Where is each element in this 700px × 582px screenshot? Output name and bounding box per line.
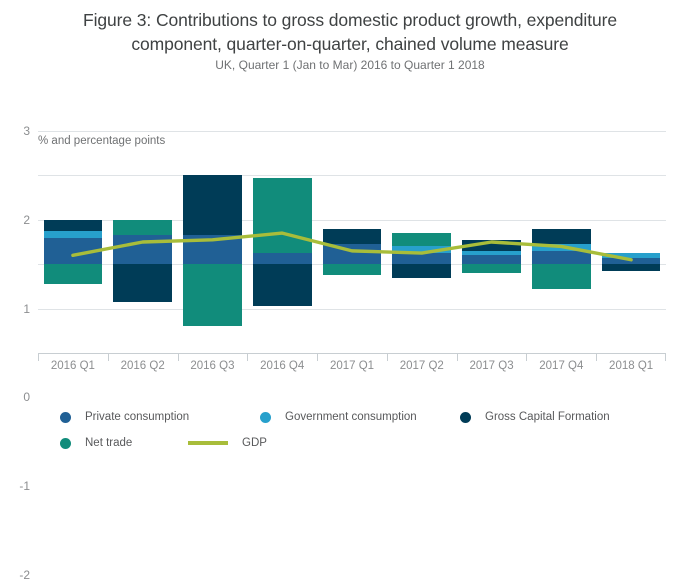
legend-item-gross-capital-formation[interactable]: Gross Capital Formation (460, 411, 660, 423)
bar-segment[interactable] (113, 235, 172, 264)
bar-segment[interactable] (183, 235, 242, 264)
stacked-bars (38, 131, 666, 353)
legend-item-label: GDP (242, 437, 267, 449)
bar-group[interactable] (178, 131, 248, 353)
y-axis-unit-label: % and percentage points (38, 135, 165, 147)
bar-segment[interactable] (323, 264, 382, 275)
bar-segment[interactable] (44, 264, 103, 284)
x-axis-label: 2016 Q4 (260, 360, 304, 372)
legend-color-dot (260, 412, 271, 423)
bar-group[interactable] (457, 131, 527, 353)
x-axis-label: 2017 Q2 (400, 360, 444, 372)
bar-segment[interactable] (323, 229, 382, 245)
legend-row: Net tradeGDP (60, 430, 680, 456)
figure-container: Figure 3: Contributions to gross domesti… (0, 0, 700, 502)
legend-row: Private consumptionGovernment consumptio… (60, 404, 680, 430)
bar-segment[interactable] (392, 233, 451, 246)
legend-item-gdp[interactable]: GDP (188, 437, 267, 449)
legend-color-dot (60, 438, 71, 449)
bar-segment[interactable] (392, 264, 451, 277)
bar-segment[interactable] (602, 258, 661, 265)
legend-item-label: Net trade (85, 437, 132, 449)
bar-segment[interactable] (323, 244, 382, 264)
bar-segment[interactable] (532, 264, 591, 288)
y-axis-tick-label: -2 (19, 568, 30, 582)
legend-item-label: Gross Capital Formation (485, 411, 610, 423)
chart-legend: Private consumptionGovernment consumptio… (60, 404, 680, 456)
bar-segment[interactable] (602, 253, 661, 257)
bar-segment[interactable] (113, 264, 172, 302)
bar-segment[interactable] (44, 220, 103, 231)
bar-group[interactable] (596, 131, 666, 353)
x-axis-label: 2016 Q3 (190, 360, 234, 372)
bar-segment[interactable] (253, 264, 312, 306)
bar-segment[interactable] (462, 240, 521, 251)
bar-group[interactable] (247, 131, 317, 353)
bar-group[interactable] (387, 131, 457, 353)
y-axis-tick-label: 3 (23, 124, 30, 138)
y-axis-tick-label: 1 (23, 302, 30, 316)
bar-segment[interactable] (532, 244, 591, 251)
bar-group[interactable] (108, 131, 178, 353)
x-axis-label: 2017 Q3 (469, 360, 513, 372)
chart-subtitle: UK, Quarter 1 (Jan to Mar) 2016 to Quart… (38, 58, 662, 72)
bar-segment[interactable] (44, 231, 103, 238)
bar-segment[interactable] (392, 253, 451, 264)
bar-segment[interactable] (602, 264, 661, 271)
bar-segment[interactable] (462, 255, 521, 264)
bar-group[interactable] (38, 131, 108, 353)
bar-segment[interactable] (532, 251, 591, 264)
legend-line-swatch (188, 441, 228, 445)
legend-color-dot (460, 412, 471, 423)
legend-color-dot (60, 412, 71, 423)
bar-segment[interactable] (532, 229, 591, 245)
bar-segment[interactable] (253, 253, 312, 264)
bar-group[interactable] (526, 131, 596, 353)
bar-segment[interactable] (44, 238, 103, 265)
y-axis-tick-label: 2 (23, 213, 30, 227)
bar-segment[interactable] (183, 264, 242, 326)
bar-segment[interactable] (462, 251, 521, 255)
bar-segment[interactable] (392, 246, 451, 253)
legend-item-label: Government consumption (285, 411, 417, 423)
bar-segment[interactable] (462, 264, 521, 273)
bar-segment[interactable] (113, 220, 172, 236)
legend-item-private-consumption[interactable]: Private consumption (60, 411, 260, 423)
x-axis-label: 2016 Q1 (51, 360, 95, 372)
legend-item-label: Private consumption (85, 411, 189, 423)
legend-item-net-trade[interactable]: Net trade (60, 437, 188, 449)
plot-area: 3210-1-2 (38, 131, 666, 353)
x-axis-labels: 2016 Q12016 Q22016 Q32016 Q42017 Q12017 … (38, 360, 666, 376)
chart-title: Figure 3: Contributions to gross domesti… (38, 8, 662, 56)
x-axis-label: 2017 Q1 (330, 360, 374, 372)
legend-item-government-consumption[interactable]: Government consumption (260, 411, 460, 423)
bar-segment[interactable] (253, 178, 312, 253)
y-axis-tick-label: -1 (19, 479, 30, 493)
x-axis-label: 2016 Q2 (121, 360, 165, 372)
x-axis-label: 2018 Q1 (609, 360, 653, 372)
bar-group[interactable] (317, 131, 387, 353)
x-axis-label: 2017 Q4 (539, 360, 583, 372)
y-axis-tick-label: 0 (23, 390, 30, 404)
bar-segment[interactable] (183, 175, 242, 235)
